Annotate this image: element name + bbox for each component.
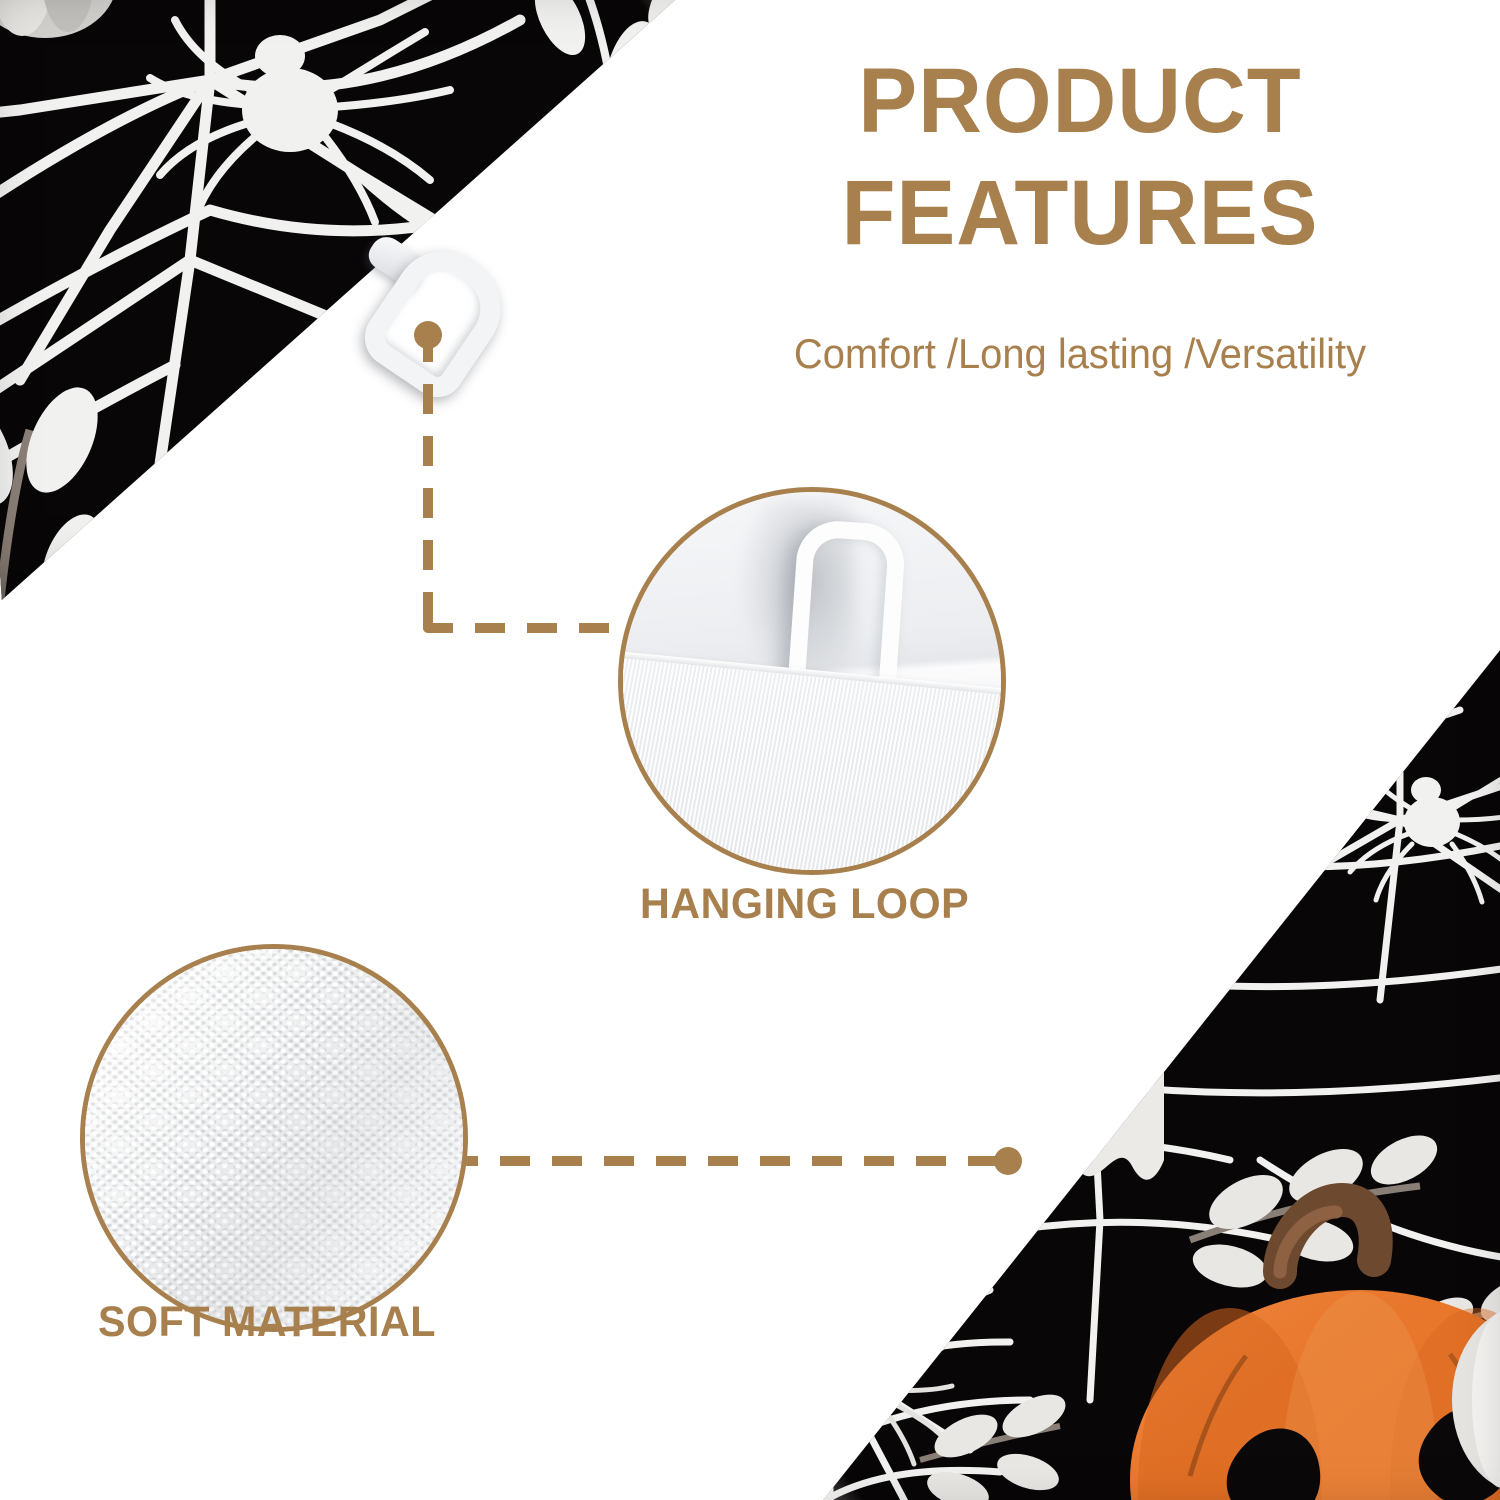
page-title: PRODUCT FEATURES bbox=[715, 45, 1445, 269]
infographic-canvas: PRODUCT FEATURES Comfort /Long lasting /… bbox=[0, 0, 1500, 1500]
feature-circle-hanging-loop bbox=[618, 487, 1006, 875]
page-subtitle: Comfort /Long lasting /Versatility bbox=[719, 330, 1441, 378]
connector-dot-soft-material bbox=[994, 1147, 1022, 1175]
feature-label-hanging-loop: HANGING LOOP bbox=[640, 880, 969, 929]
connector-line-hanging-loop-vertical bbox=[423, 332, 433, 628]
towel-pattern-top-left bbox=[0, 0, 720, 600]
leaf-branch-icon bbox=[524, 0, 705, 129]
connector-line-hanging-loop-horizontal bbox=[423, 623, 623, 633]
pumpkin-motif-icon bbox=[0, 0, 117, 38]
spider-icon bbox=[1342, 760, 1500, 902]
towel-surface bbox=[618, 657, 1006, 875]
hanging-loop-closeup-photo bbox=[623, 492, 1001, 870]
fabric-sheen bbox=[85, 949, 463, 1327]
leaf-branch-icon bbox=[0, 377, 114, 600]
feature-circle-soft-material bbox=[80, 944, 468, 1332]
connector-line-soft-material bbox=[448, 1156, 1006, 1166]
soft-material-closeup-photo bbox=[85, 949, 463, 1327]
product-towel-top-left bbox=[0, 0, 720, 600]
ghost-icon bbox=[940, 886, 1164, 1181]
feature-label-soft-material: SOFT MATERIAL bbox=[98, 1298, 436, 1347]
spider-web-pattern-icon bbox=[0, 0, 720, 600]
leaf-branch-icon bbox=[1184, 681, 1298, 830]
